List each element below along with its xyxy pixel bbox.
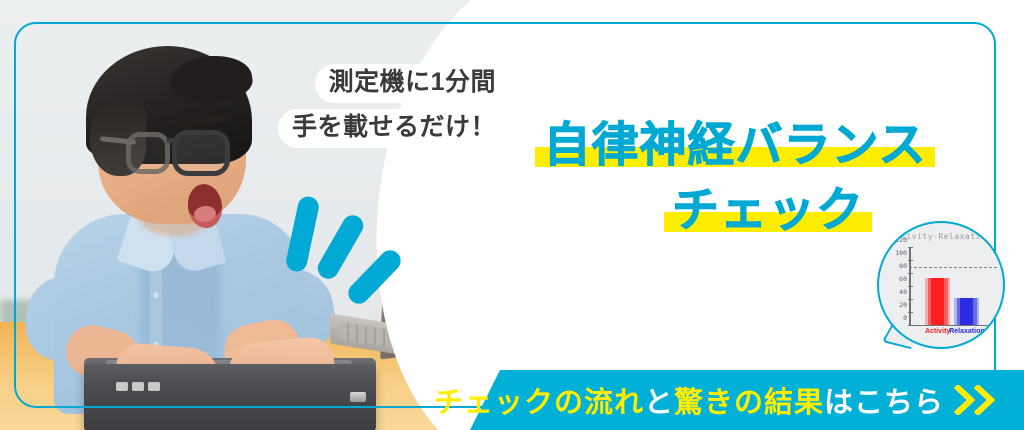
y-tick-label: 120 — [895, 236, 907, 244]
cta-segment-2: 驚きの結果 — [674, 387, 824, 419]
y-tick — [908, 260, 913, 261]
y-tick-label: 20 — [899, 301, 907, 309]
cta-label: チェックの流れと驚きの結果はこちら — [434, 379, 944, 421]
glasses-lens-near — [172, 130, 230, 176]
y-tick — [908, 299, 913, 300]
y-tick — [908, 273, 913, 274]
y-tick — [908, 286, 913, 287]
x-axis — [909, 325, 997, 327]
banner-title: 自律神経バランス チェック — [500, 120, 970, 236]
title-line-2: チェック — [672, 183, 864, 236]
caption-line-1: 測定機に1分間 — [315, 64, 510, 103]
bar-activity — [925, 278, 950, 325]
title-line-1: 自律神経バランス — [543, 118, 926, 171]
y-tick — [908, 247, 913, 248]
bar-relaxation — [954, 298, 979, 325]
y-tick — [908, 325, 913, 326]
cta-content[interactable]: チェックの流れと驚きの結果はこちら — [434, 370, 1000, 430]
bar-chart-plot: 020406080100120 ActivityRelaxation — [909, 248, 997, 326]
cta-banner[interactable]: チェックの流れと驚きの結果はこちら — [0, 370, 1024, 430]
cta-segment-3: はこちら — [824, 387, 944, 419]
bar-core — [960, 298, 973, 325]
y-tick-label: 60 — [899, 275, 907, 283]
banner-root: 測定機に1分間 手を載せるだけ！ 自律神経バランス チェック Activity-… — [0, 0, 1024, 430]
y-tick-label: 40 — [899, 288, 907, 296]
x-category-label: Relaxation — [949, 328, 984, 335]
cta-segment-1: と — [644, 387, 674, 419]
reference-line — [909, 267, 997, 268]
shirt-button — [153, 292, 159, 298]
bar-core — [931, 278, 944, 325]
x-category-label: Activity — [925, 328, 950, 335]
caption-line-2: 手を載せるだけ！ — [278, 109, 510, 148]
double-chevron-right-icon[interactable] — [954, 385, 1000, 415]
y-tick-label: 80 — [899, 262, 907, 270]
bubble-body: Activity-Relaxation 020406080100120 Acti… — [877, 221, 1005, 349]
cta-segment-0: チェックの流れ — [434, 387, 644, 419]
y-tick-label: 100 — [895, 249, 907, 257]
chart-speech-bubble: Activity-Relaxation 020406080100120 Acti… — [877, 221, 1005, 349]
caption-block: 測定機に1分間 手を載せるだけ！ — [238, 64, 510, 154]
y-tick-label: 0 — [903, 314, 907, 322]
glasses-lens-far — [126, 132, 170, 174]
y-tick — [908, 312, 913, 313]
